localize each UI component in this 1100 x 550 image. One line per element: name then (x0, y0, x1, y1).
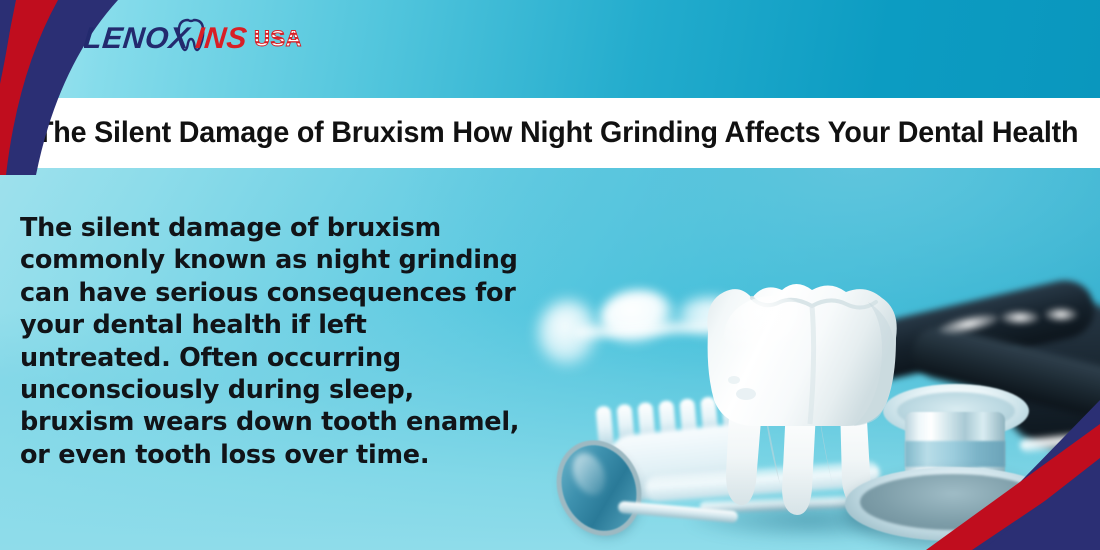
stethoscope-highlight (1000, 310, 1040, 325)
stethoscope-diaphragm-rim (860, 474, 1046, 530)
stethoscope-highlight (1044, 307, 1078, 322)
svg-text:USA: USA (254, 26, 302, 51)
page-title: The Silent Damage of Bruxism How Night G… (36, 116, 1078, 150)
svg-text:LENOX: LENOX (84, 22, 193, 55)
brand-logo[interactable]: LENOX INS USA (84, 17, 324, 59)
svg-text:INS: INS (194, 22, 249, 55)
marketing-banner: The Silent Damage of Bruxism How Night G… (0, 0, 1100, 550)
usa-flag-wordmark: USA (254, 26, 302, 51)
title-bar: The Silent Damage of Bruxism How Night G… (0, 98, 1100, 168)
body-paragraph: The silent damage of bruxism commonly kn… (20, 212, 520, 471)
stethoscope-bell-band (905, 441, 1005, 467)
